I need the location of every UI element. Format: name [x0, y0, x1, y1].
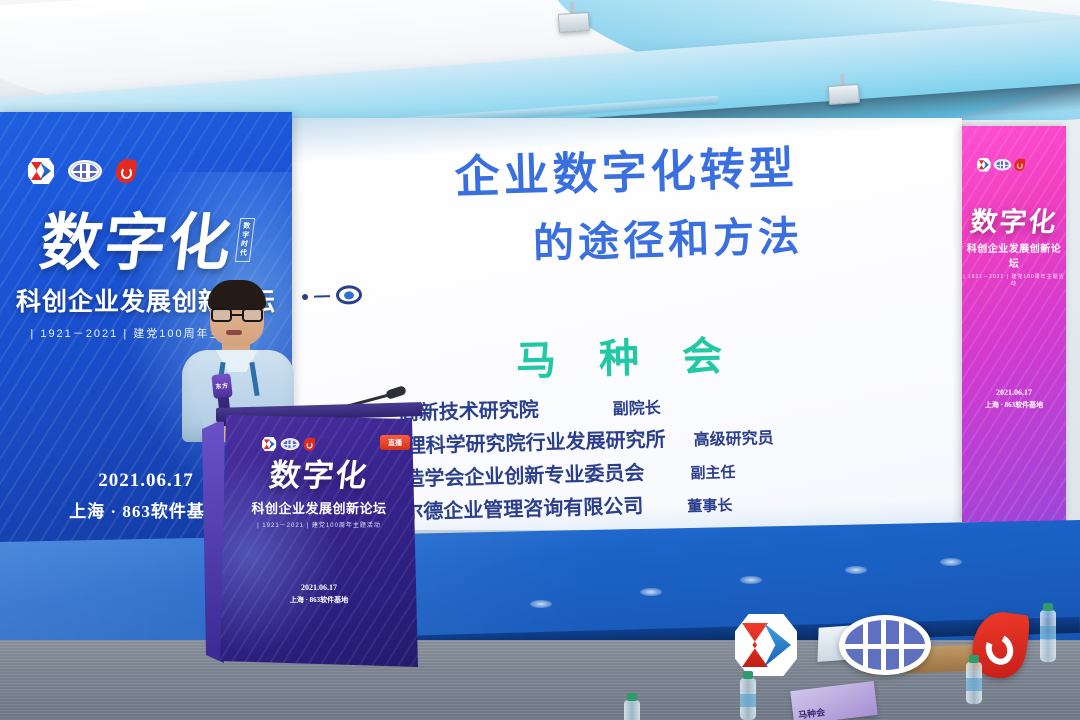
microphone-brand-text: 东方: [215, 380, 229, 390]
credential-title: 副院长: [612, 394, 661, 419]
banner-date-block: 2021.06.17 上海 · 863软件基地: [962, 388, 1066, 410]
slide-title-line2: 的途径和方法: [292, 198, 962, 277]
banner-calligraphy-text: 数字化: [36, 210, 236, 278]
podium-live-badge: 直播: [380, 435, 410, 450]
floor-light-reflection: [845, 566, 867, 574]
blue-oval-emblem-logo-icon: [68, 160, 102, 182]
red-flame-logo-icon: [1014, 159, 1024, 171]
floor-light-reflection: [740, 576, 762, 584]
sponsor-logo-row: [735, 612, 1027, 678]
credential-title: 高级研究员: [693, 424, 774, 450]
name-card-text: 马种会: [797, 705, 825, 720]
podium-date: 2021.06.17: [220, 583, 418, 592]
right-event-banner: 数字化 科创企业发展创新论坛 | 1921－2021 | 建党100周年主题活动…: [962, 126, 1066, 522]
blue-oval-emblem-logo-icon: [281, 438, 300, 450]
floor-light-reflection: [640, 588, 662, 596]
banner-seal: 数字时代: [234, 218, 254, 262]
water-bottle-icon: [624, 700, 640, 720]
floor-light-reflection: [530, 600, 552, 608]
banner-year-line: | 1921－2021 | 建党100周年主题活动: [962, 273, 1066, 287]
red-flame-logo-icon: [304, 438, 315, 451]
red-blue-chevron-logo-icon: [262, 437, 276, 451]
red-flame-logo-icon: [116, 159, 136, 183]
water-bottle-icon: [740, 678, 756, 720]
banner-logo-row: [28, 158, 136, 184]
water-bottle-icon: [1040, 610, 1056, 662]
credential-title: 副主任: [690, 461, 736, 483]
banner-calligraphy: 数字化: [962, 208, 1066, 236]
red-blue-chevron-logo-icon: [28, 158, 54, 184]
podium-artwork: 数字化 科创企业发展创新论坛 | 1921－2021 | 建党100周年主题活动: [220, 459, 418, 529]
podium-date-block: 2021.06.17 上海 · 863软件基地: [220, 583, 418, 605]
speaker-mouth: [226, 330, 242, 335]
banner-calligraphy: 数字化数字时代: [10, 212, 282, 276]
red-blue-chevron-logo-icon: [977, 158, 991, 172]
banner-date: 2021.06.17: [962, 388, 1066, 397]
hanging-spotlight-icon: [555, 1, 591, 33]
eye-bullet-icon: [302, 285, 363, 306]
podium-subtitle: 科创企业发展创新论坛: [220, 498, 418, 517]
eyeglasses-icon: [211, 308, 263, 322]
conference-stage-photo: 企业数字化转型 的途径和方法 马 种 会 高新技术研究院 副院长 管理科学研究院…: [0, 0, 1080, 720]
podium-venue: 上海 · 863软件基地: [220, 595, 418, 605]
water-bottle-icon: [966, 662, 982, 704]
red-blue-chevron-logo-icon: [735, 614, 797, 676]
blue-oval-emblem-logo-icon: [839, 615, 931, 675]
credential-title: 董事长: [687, 494, 733, 516]
banner-logo-row: [977, 158, 1025, 172]
podium-logo-row: [262, 437, 315, 451]
banner-stripe-texture: [962, 126, 1066, 522]
podium-calligraphy: 数字化: [220, 459, 418, 492]
banner-subtitle: 科创企业发展创新论坛: [962, 240, 1066, 270]
banner-venue: 上海 · 863软件基地: [962, 400, 1066, 410]
slide-credentials-list: 高新技术研究院 副院长 管理科学研究院行业发展研究所 高级研究员 创造学会企业创…: [376, 383, 949, 530]
podium-lectern: 直播 数字化 科创企业发展创新论坛 | 1921－2021 | 建党100周年主…: [216, 405, 422, 670]
podium-front-panel: 直播 数字化 科创企业发展创新论坛 | 1921－2021 | 建党100周年主…: [220, 415, 418, 667]
floor-light-reflection: [940, 558, 962, 566]
hanging-spotlight-icon: [825, 73, 861, 105]
banner-artwork: 数字化 科创企业发展创新论坛 | 1921－2021 | 建党100周年主题活动: [962, 208, 1066, 287]
blue-oval-emblem-logo-icon: [994, 159, 1012, 170]
podium-year-line: | 1921－2021 | 建党100周年主题活动: [220, 520, 418, 529]
speaker-hair: [208, 280, 266, 310]
slide-title: 企业数字化转型 的途径和方法: [292, 127, 962, 277]
